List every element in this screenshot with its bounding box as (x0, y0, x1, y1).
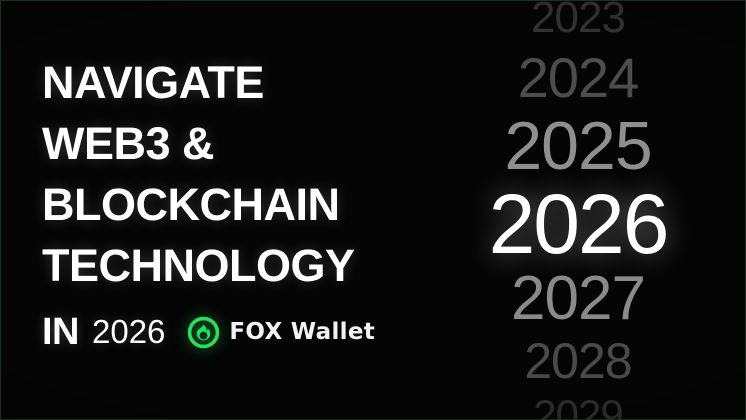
footer-year-label: 2026 (92, 312, 165, 352)
year-label-2023: 2023 (430, 0, 726, 40)
headline-line-2: WEB3 & (42, 113, 355, 174)
footer-in-label: IN (42, 312, 79, 352)
year-label-2029: 2029 (430, 394, 726, 420)
footer-row: IN 2026 FOX Wallet (42, 312, 375, 352)
year-label-2026: 2026 (430, 182, 726, 266)
brand-lockup[interactable]: FOX Wallet (187, 316, 375, 349)
headline-line-3: BLOCKCHAIN (42, 174, 355, 235)
year-label-2028: 2028 (430, 336, 726, 386)
headline-line-4: TECHNOLOGY (42, 235, 355, 296)
year-label-2024: 2024 (430, 50, 726, 106)
year-label-2025: 2025 (430, 112, 726, 180)
brand-name-label: FOX Wallet (229, 319, 375, 345)
year-stack: 2023202420252026202720282029 (430, 0, 746, 420)
headline-line-1: NAVIGATE (42, 52, 355, 113)
headline-block: NAVIGATE WEB3 & BLOCKCHAIN TECHNOLOGY (42, 52, 355, 296)
promo-banner: 2023202420252026202720282029 NAVIGATE WE… (0, 0, 746, 420)
fox-flame-circle-icon (187, 316, 220, 349)
year-label-2027: 2027 (430, 268, 726, 330)
